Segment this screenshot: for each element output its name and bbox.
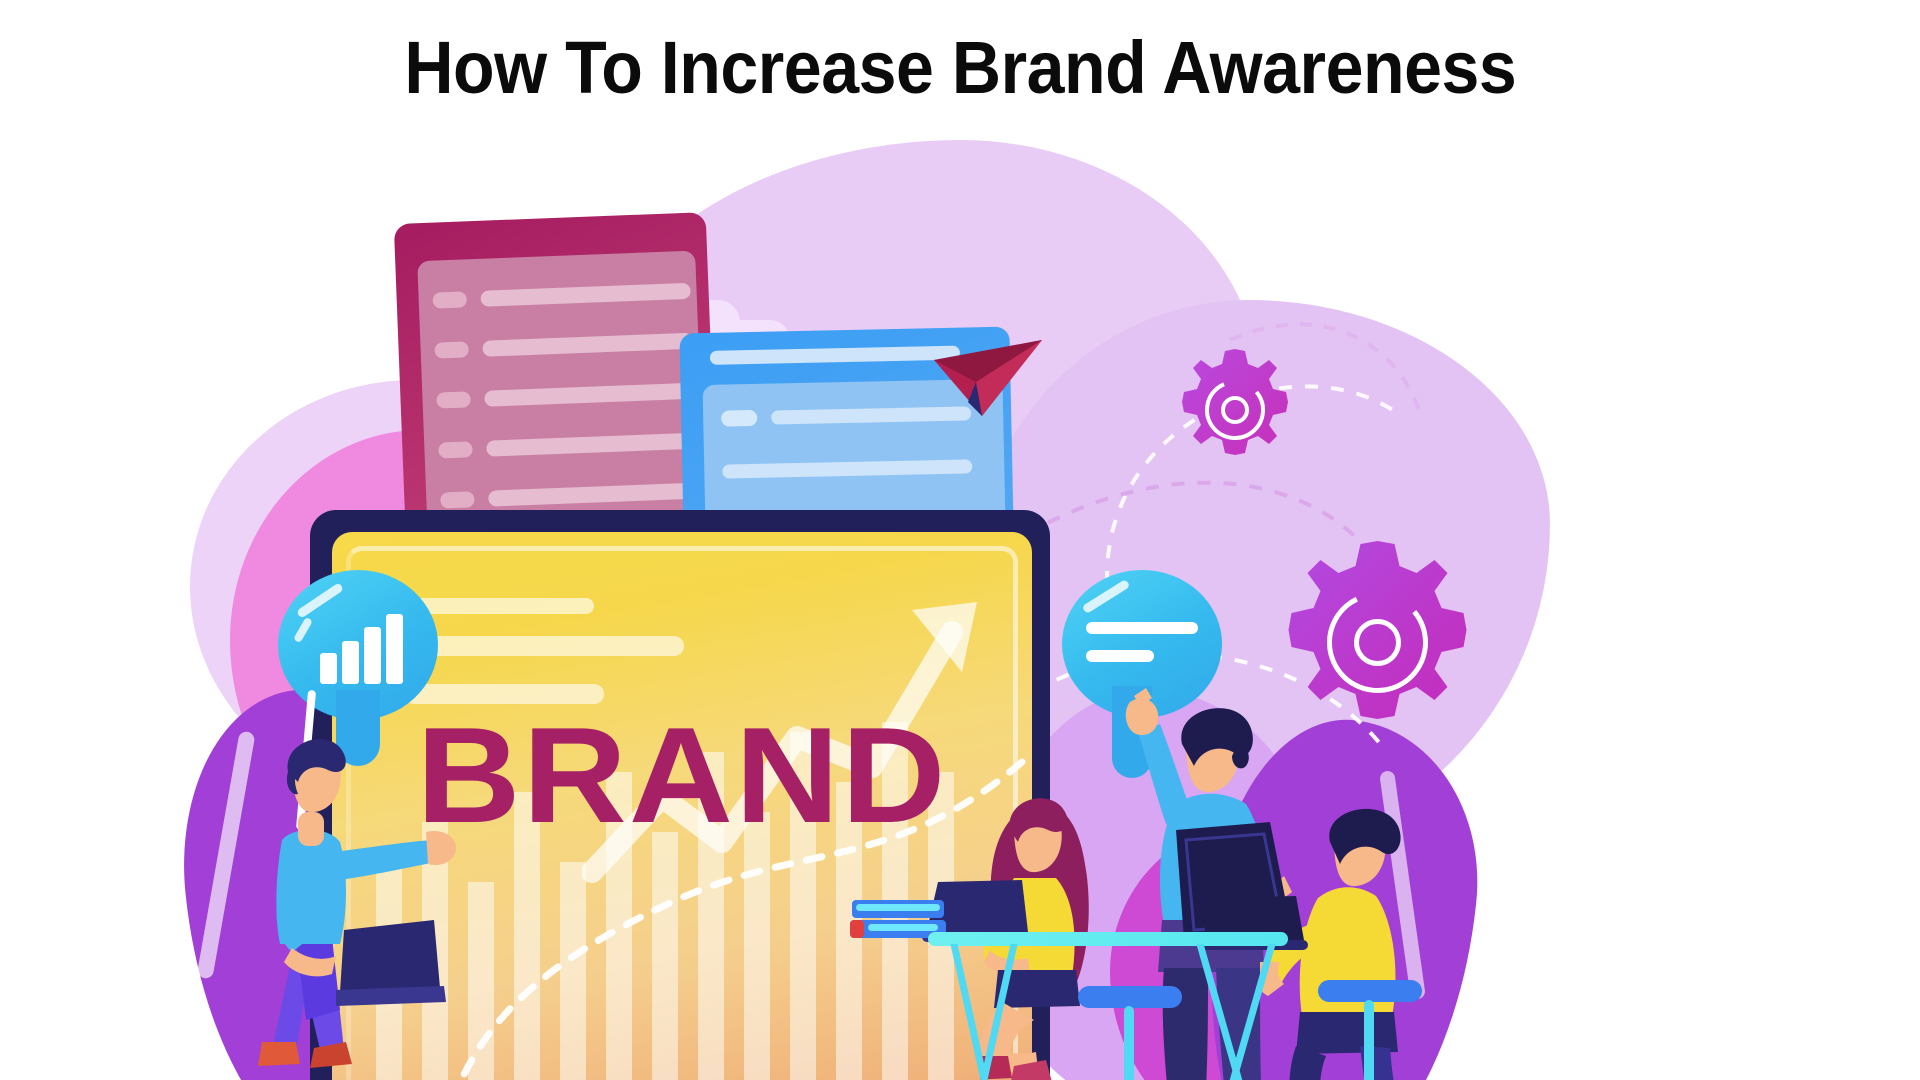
list-line: [486, 433, 696, 457]
paper-plane-icon: [930, 330, 1040, 420]
list-line: [480, 283, 690, 307]
list-bullet: [432, 291, 467, 308]
list-bullet: [436, 391, 471, 408]
stool: [1070, 986, 1190, 1080]
page-title: How To Increase Brand Awareness: [404, 24, 1516, 112]
bubble-chart-bar: [320, 653, 337, 684]
poster-canvas: How To Increase Brand Awareness: [0, 0, 1920, 1080]
list-bullet: [721, 410, 757, 427]
stool: [1310, 980, 1430, 1080]
pink-card-content: [417, 251, 706, 553]
book-page-edge: [856, 904, 940, 911]
bubble-text-line: [1086, 622, 1198, 634]
list-line: [484, 383, 694, 407]
list-bullet: [434, 341, 469, 358]
book-spine: [850, 920, 864, 938]
bubble-chart-bar: [386, 614, 403, 684]
list-line: [722, 459, 972, 478]
pink-document-card: [394, 212, 718, 554]
list-line: [488, 483, 698, 507]
bubble-chart-bar: [342, 641, 359, 684]
list-line: [482, 333, 692, 357]
bubble-chart-bar: [364, 627, 381, 684]
laptop: [336, 920, 446, 1020]
list-bullet: [440, 491, 475, 508]
person-presenter-left: [236, 690, 466, 1080]
page-title-container: How To Increase Brand Awareness: [0, 24, 1920, 112]
book-page-edge: [868, 924, 938, 931]
gear-small-icon: [1170, 345, 1300, 475]
card-header-line: [710, 346, 960, 365]
bubble-text-line: [1086, 650, 1154, 662]
brand-awareness-illustration: BRAND: [150, 130, 1480, 1080]
list-bullet: [438, 441, 473, 458]
screen-header-line: [404, 598, 594, 614]
